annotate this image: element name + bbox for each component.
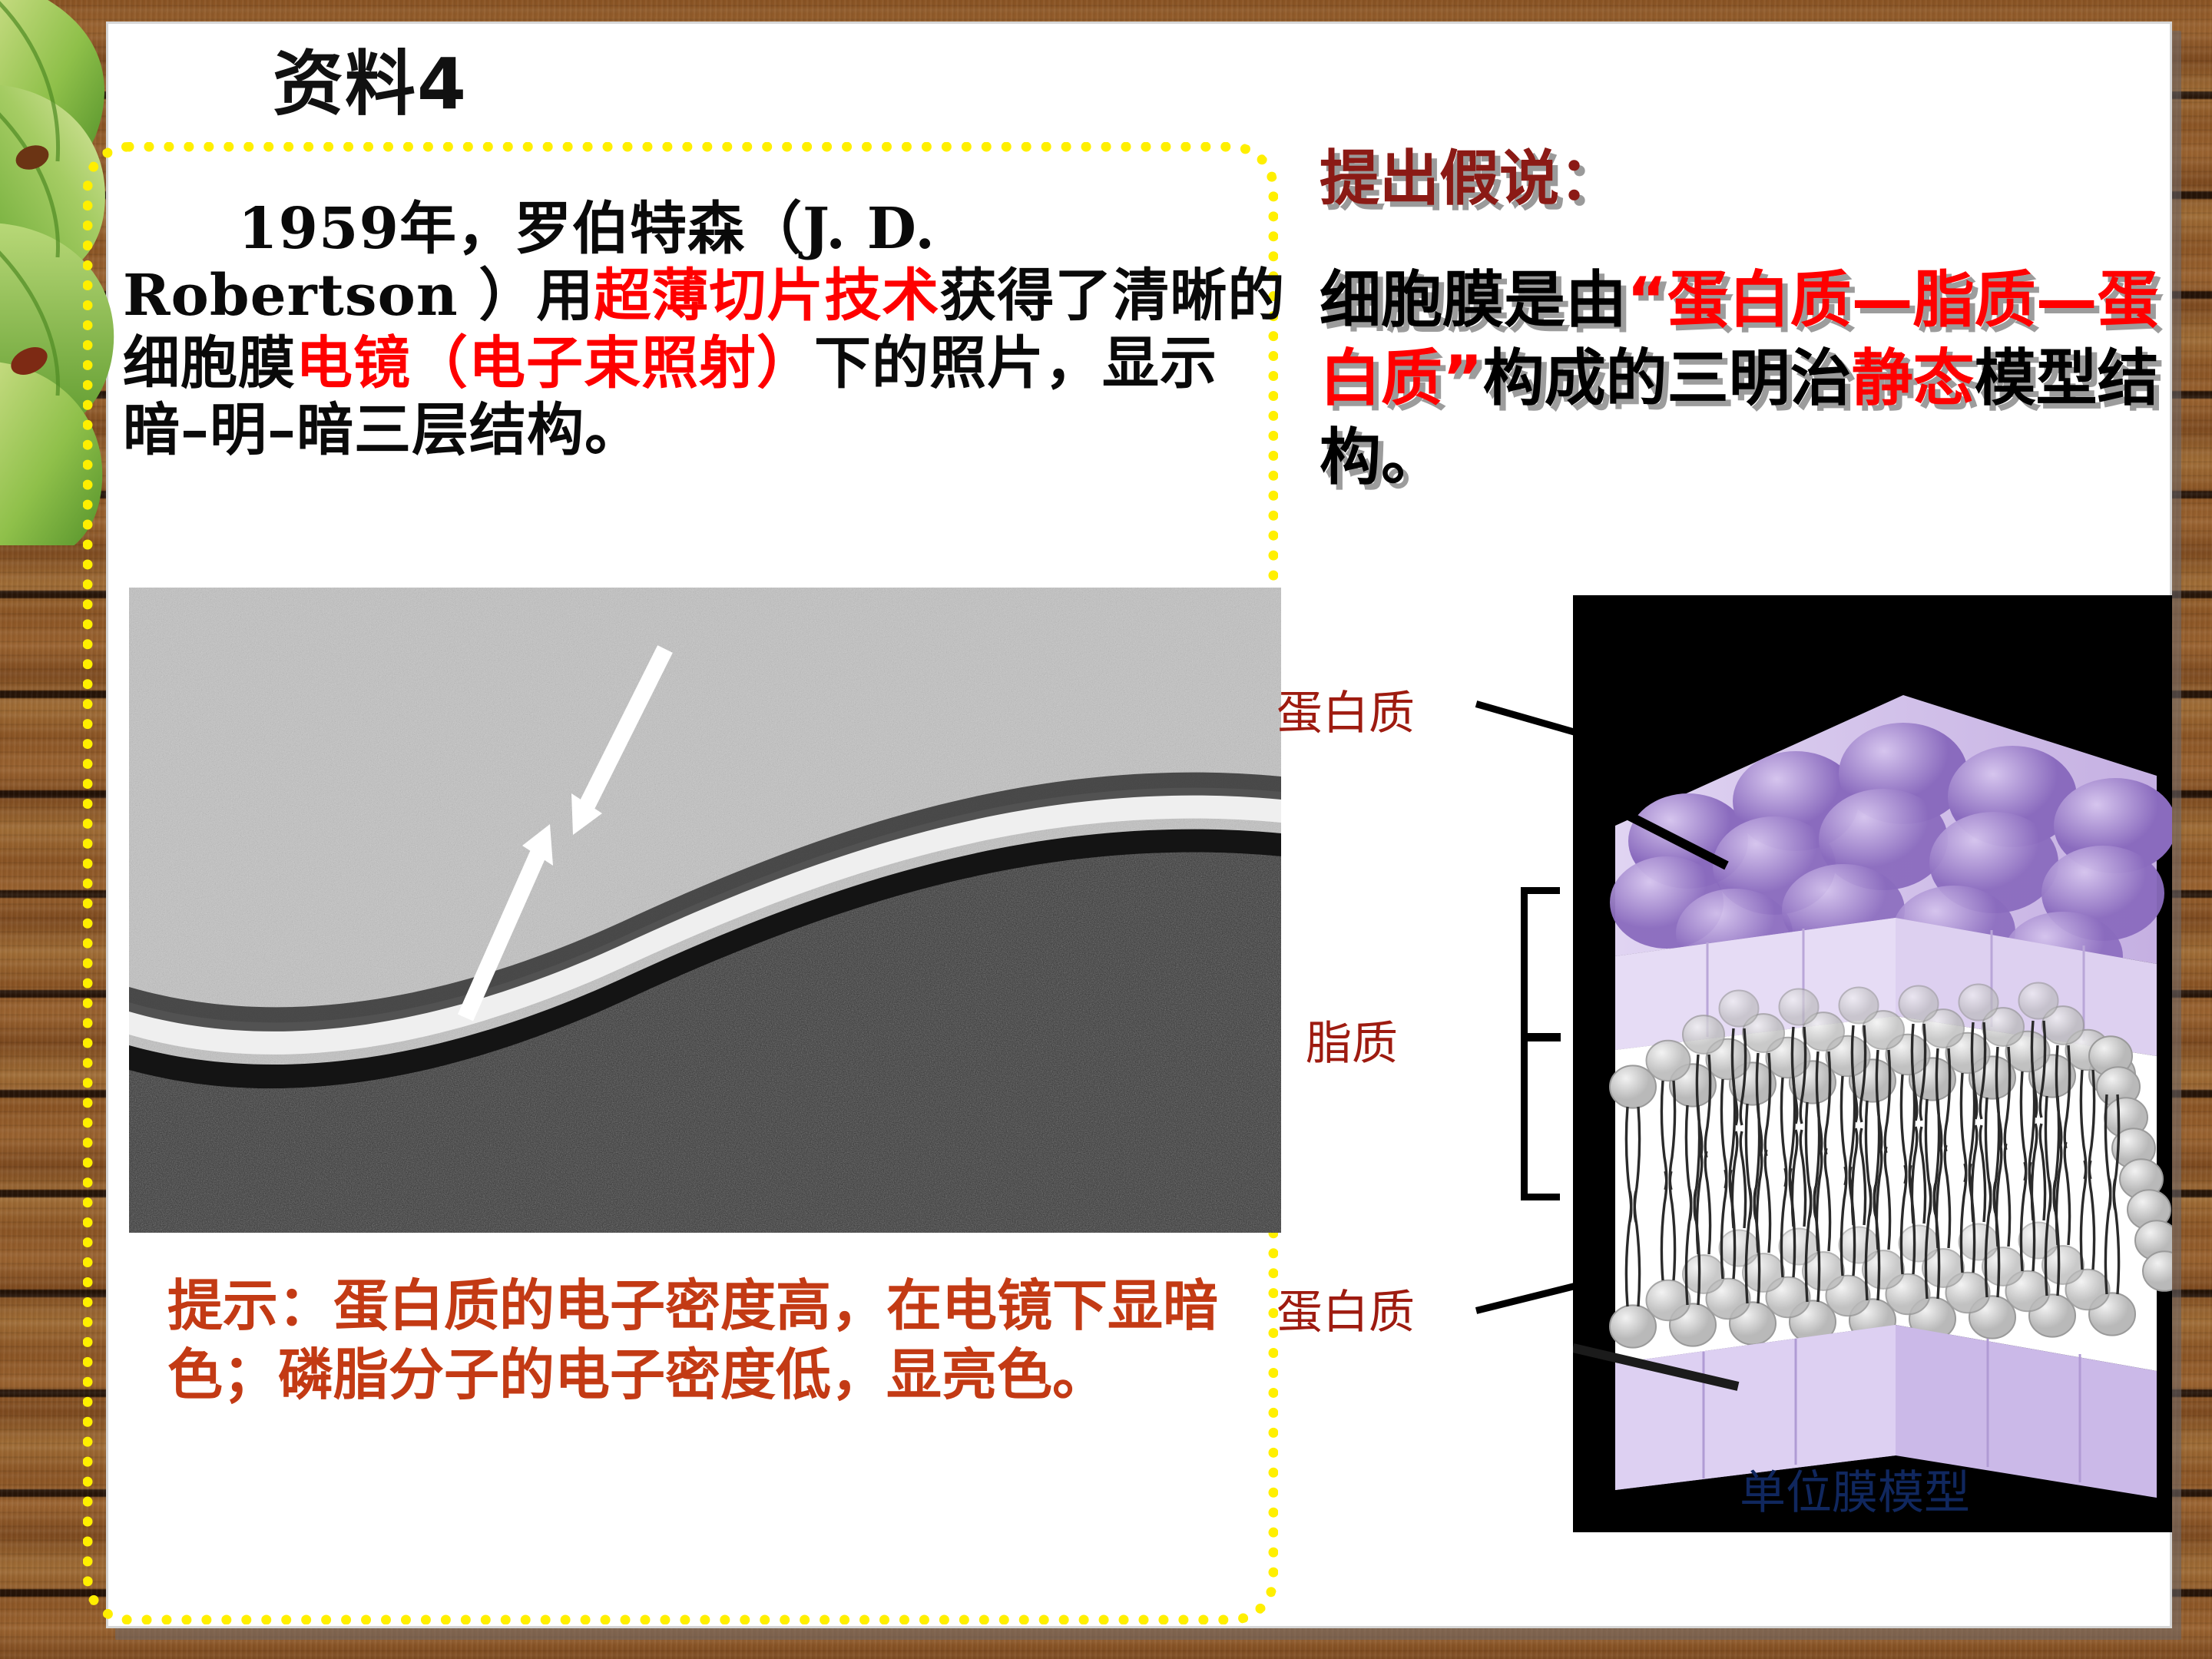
hyp-segment-3: 构成的三明治 bbox=[1483, 343, 1852, 414]
hyp-segment-1: 细胞膜是由 bbox=[1320, 264, 1627, 336]
lipid-bilayer bbox=[1610, 983, 2172, 1371]
para-segment-4-highlight: 电镜（电子束照射） bbox=[296, 330, 814, 396]
label-lipid: 脂质 bbox=[1306, 1006, 1398, 1073]
para-segment-2-highlight: 超薄切片技术 bbox=[594, 263, 939, 329]
lipid-bracket-tick bbox=[1521, 1033, 1561, 1041]
micrograph-image bbox=[129, 588, 1281, 1233]
diagram-caption: 单位膜模型 bbox=[1740, 1455, 1970, 1522]
left-paragraph: 1959年，罗伯特森（J. D. Robertson ）用超薄切片技术获得了清晰… bbox=[123, 196, 1290, 464]
hypothesis-heading: 提出假说： bbox=[1320, 131, 1619, 217]
electron-micrograph-figure bbox=[129, 588, 1281, 1233]
hyp-segment-4-highlight: 静态 bbox=[1852, 343, 1975, 414]
membrane-svg bbox=[1573, 595, 2172, 1532]
page-title: 资料4 bbox=[273, 27, 468, 129]
hypothesis-paragraph: 细胞膜是由“蛋白质—脂质—蛋白质”构成的三明治静态模型结构。 bbox=[1320, 261, 2172, 497]
hint-text: 提示：蛋白质的电子密度高，在电镜下显暗色；磷脂分子的电子密度低，显亮色。 bbox=[167, 1271, 1258, 1409]
label-protein-bottom: 蛋白质 bbox=[1277, 1275, 1415, 1342]
label-protein-top: 蛋白质 bbox=[1277, 676, 1415, 743]
unit-membrane-diagram bbox=[1573, 595, 2172, 1532]
lipid-bracket bbox=[1521, 887, 1560, 1200]
